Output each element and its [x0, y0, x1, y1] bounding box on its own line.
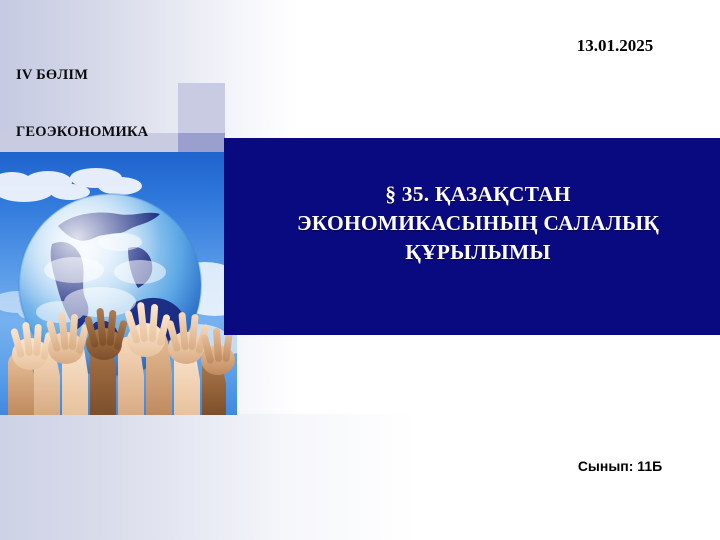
decorative-square-light: [178, 83, 225, 133]
slide-title-line-2: ЭКОНОМИКАСЫНЫҢ САЛАЛЫҚ: [248, 209, 708, 238]
section-heading-line-1: IV БӨЛІМ: [16, 66, 148, 85]
slide-title: § 35. ҚАЗАҚСТАН ЭКОНОМИКАСЫНЫҢ САЛАЛЫҚ Қ…: [248, 180, 708, 267]
presentation-slide: IV БӨЛІМ ГЕОЭКОНОМИКА 13.01.2025: [0, 0, 720, 540]
decorative-square-mid: [178, 133, 225, 154]
hands-holding-globe-photo: [0, 152, 237, 415]
slide-background-lower-block: [0, 414, 420, 540]
slide-title-line-3: ҚҰРЫЛЫМЫ: [248, 238, 708, 267]
slide-date: 13.01.2025: [520, 36, 710, 56]
class-label: Сынып: 11Б: [530, 458, 710, 474]
section-heading-line-2: ГЕОЭКОНОМИКА: [16, 123, 148, 142]
slide-title-line-1: § 35. ҚАЗАҚСТАН: [248, 180, 708, 209]
